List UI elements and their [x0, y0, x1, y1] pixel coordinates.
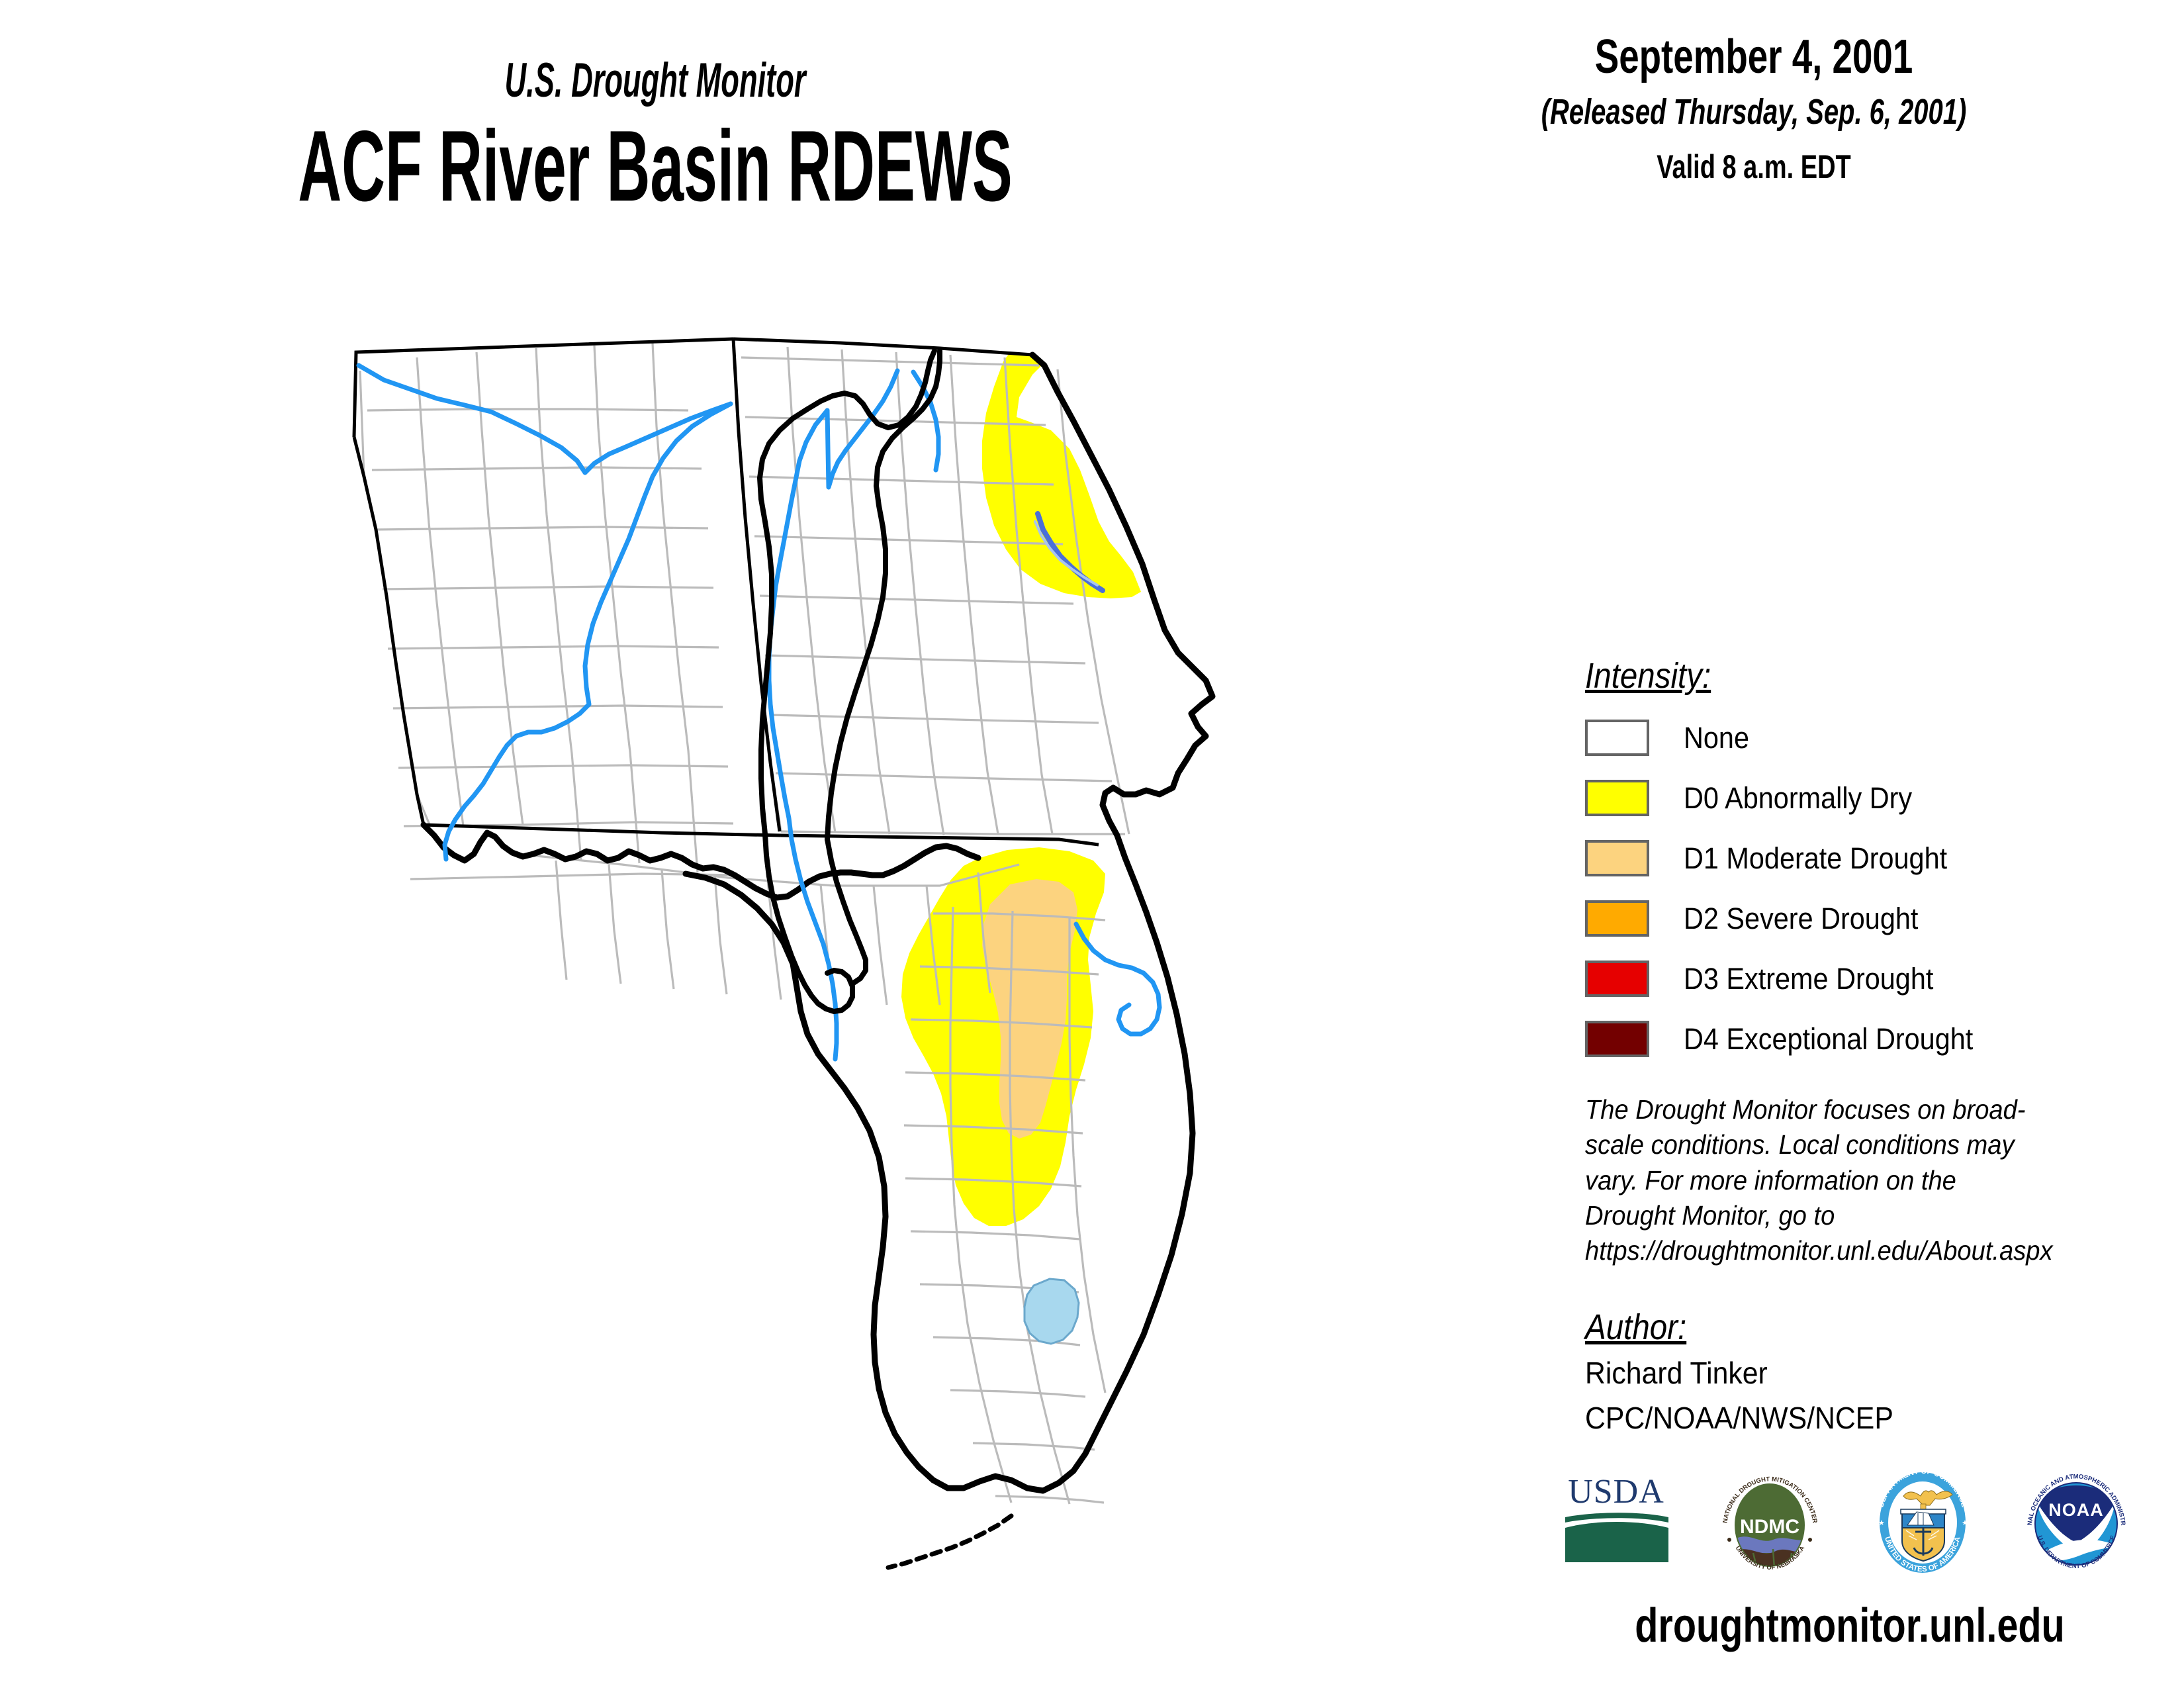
release-date: (Released Thursday, Sep. 6, 2001)	[1484, 93, 2023, 132]
legend-item-d0[interactable]: D0 Abnormally Dry	[1585, 779, 2115, 817]
swatch-d3	[1585, 961, 1649, 997]
usda-logo[interactable]: USDA	[1559, 1462, 1674, 1584]
legend-title: Intensity:	[1585, 655, 1711, 696]
date-block: September 4, 2001 (Released Thursday, Se…	[1390, 0, 2118, 185]
author-affiliation: CPC/NOAA/NWS/NCEP	[1585, 1399, 2077, 1438]
doc-logo[interactable]: DEPARTMENT OF COMMERCE UNITED STATES OF …	[1865, 1462, 1981, 1584]
swatch-d1	[1585, 840, 1649, 876]
swatch-d2	[1585, 900, 1649, 937]
svg-text:NDMC: NDMC	[1740, 1516, 1799, 1538]
legend-item-d1[interactable]: D1 Moderate Drought	[1585, 839, 2115, 877]
legend-label-d4: D4 Exceptional Drought	[1684, 1022, 1973, 1056]
map-svg	[318, 331, 1257, 1648]
legend-label-none: None	[1684, 721, 1749, 755]
legend-item-d2[interactable]: D2 Severe Drought	[1585, 900, 2115, 937]
legend-item-d3[interactable]: D3 Extreme Drought	[1585, 960, 2115, 998]
logo-row: USDA NDMC NATIONAL DROUGHT MITIGATION CE…	[1559, 1460, 2134, 1585]
legend-label-d1: D1 Moderate Drought	[1684, 841, 1947, 876]
valid-time: Valid 8 a.m. EDT	[1477, 149, 2030, 185]
disclaimer-text: The Drought Monitor focuses on broad-sca…	[1585, 1092, 2053, 1268]
noaa-logo[interactable]: NOAA NATIONAL OCEANIC AND ATMOSPHERIC AD…	[2019, 1462, 2134, 1584]
svg-text:USDA: USDA	[1568, 1473, 1664, 1511]
author-heading: Author:	[1585, 1307, 1686, 1348]
swatch-d0	[1585, 780, 1649, 816]
site-url[interactable]: droughtmonitor.unl.edu	[1617, 1599, 2083, 1653]
legend-panel: Intensity: None D0 Abnormally Dry D1 Mod…	[1585, 655, 2115, 1438]
svg-text:NOAA: NOAA	[2048, 1500, 2104, 1520]
legend-label-d0: D0 Abnormally Dry	[1684, 781, 1912, 816]
ndmc-logo[interactable]: NDMC NATIONAL DROUGHT MITIGATION CENTER …	[1712, 1462, 1828, 1584]
drought-map[interactable]	[318, 331, 1257, 1648]
swatch-none	[1585, 720, 1649, 756]
svg-text:★: ★	[1878, 1519, 1885, 1527]
valid-date: September 4, 2001	[1477, 32, 2030, 83]
legend-label-d2: D2 Severe Drought	[1684, 902, 1918, 936]
page-subtitle: U.S. Drought Monitor	[249, 53, 1062, 108]
svg-text:★: ★	[1962, 1519, 1968, 1527]
legend-item-d4[interactable]: D4 Exceptional Drought	[1585, 1020, 2115, 1058]
page-title: ACF River Basin RDEWS	[262, 116, 1048, 216]
swatch-d4	[1585, 1021, 1649, 1057]
author-name: Richard Tinker	[1585, 1354, 2077, 1393]
legend-item-none[interactable]: None	[1585, 719, 2115, 757]
legend-label-d3: D3 Extreme Drought	[1684, 962, 1933, 996]
